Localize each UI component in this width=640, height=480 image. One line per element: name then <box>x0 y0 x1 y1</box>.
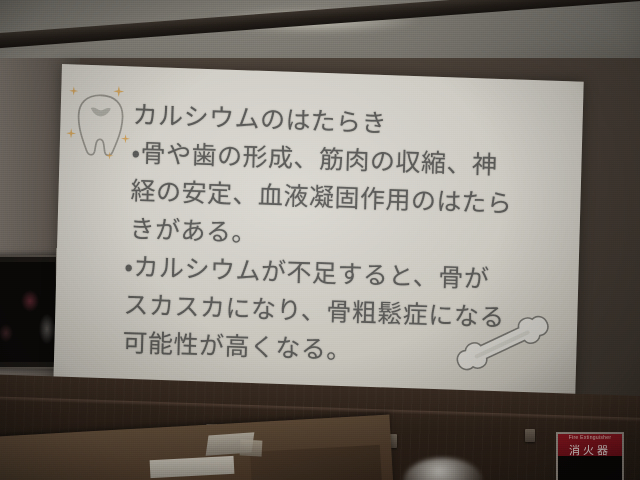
fire-extinguisher-cabinet <box>558 456 622 480</box>
fire-extinguisher-sign-english: Fire Extinguisher <box>558 435 622 441</box>
framed-artwork-edge <box>56 248 65 372</box>
upper-wall <box>0 58 640 418</box>
room-photo-scene: カルシウムのはたらき ・骨や歯の形成、筋肉の収縮、神 経の安定、血液凝固作用のは… <box>0 0 640 480</box>
wall-outlet <box>525 429 535 442</box>
artwork-mark <box>21 290 39 312</box>
paper-handout <box>240 439 263 456</box>
framed-artwork <box>0 255 62 369</box>
artwork-mark <box>39 314 55 344</box>
artwork-mark <box>0 324 13 342</box>
fire-extinguisher-sign-banner: Fire Extinguisher 消火器 <box>558 434 622 456</box>
table-edge <box>250 445 382 480</box>
artwork-canvas <box>0 262 55 362</box>
fire-extinguisher-sign: Fire Extinguisher 消火器 <box>556 432 624 480</box>
